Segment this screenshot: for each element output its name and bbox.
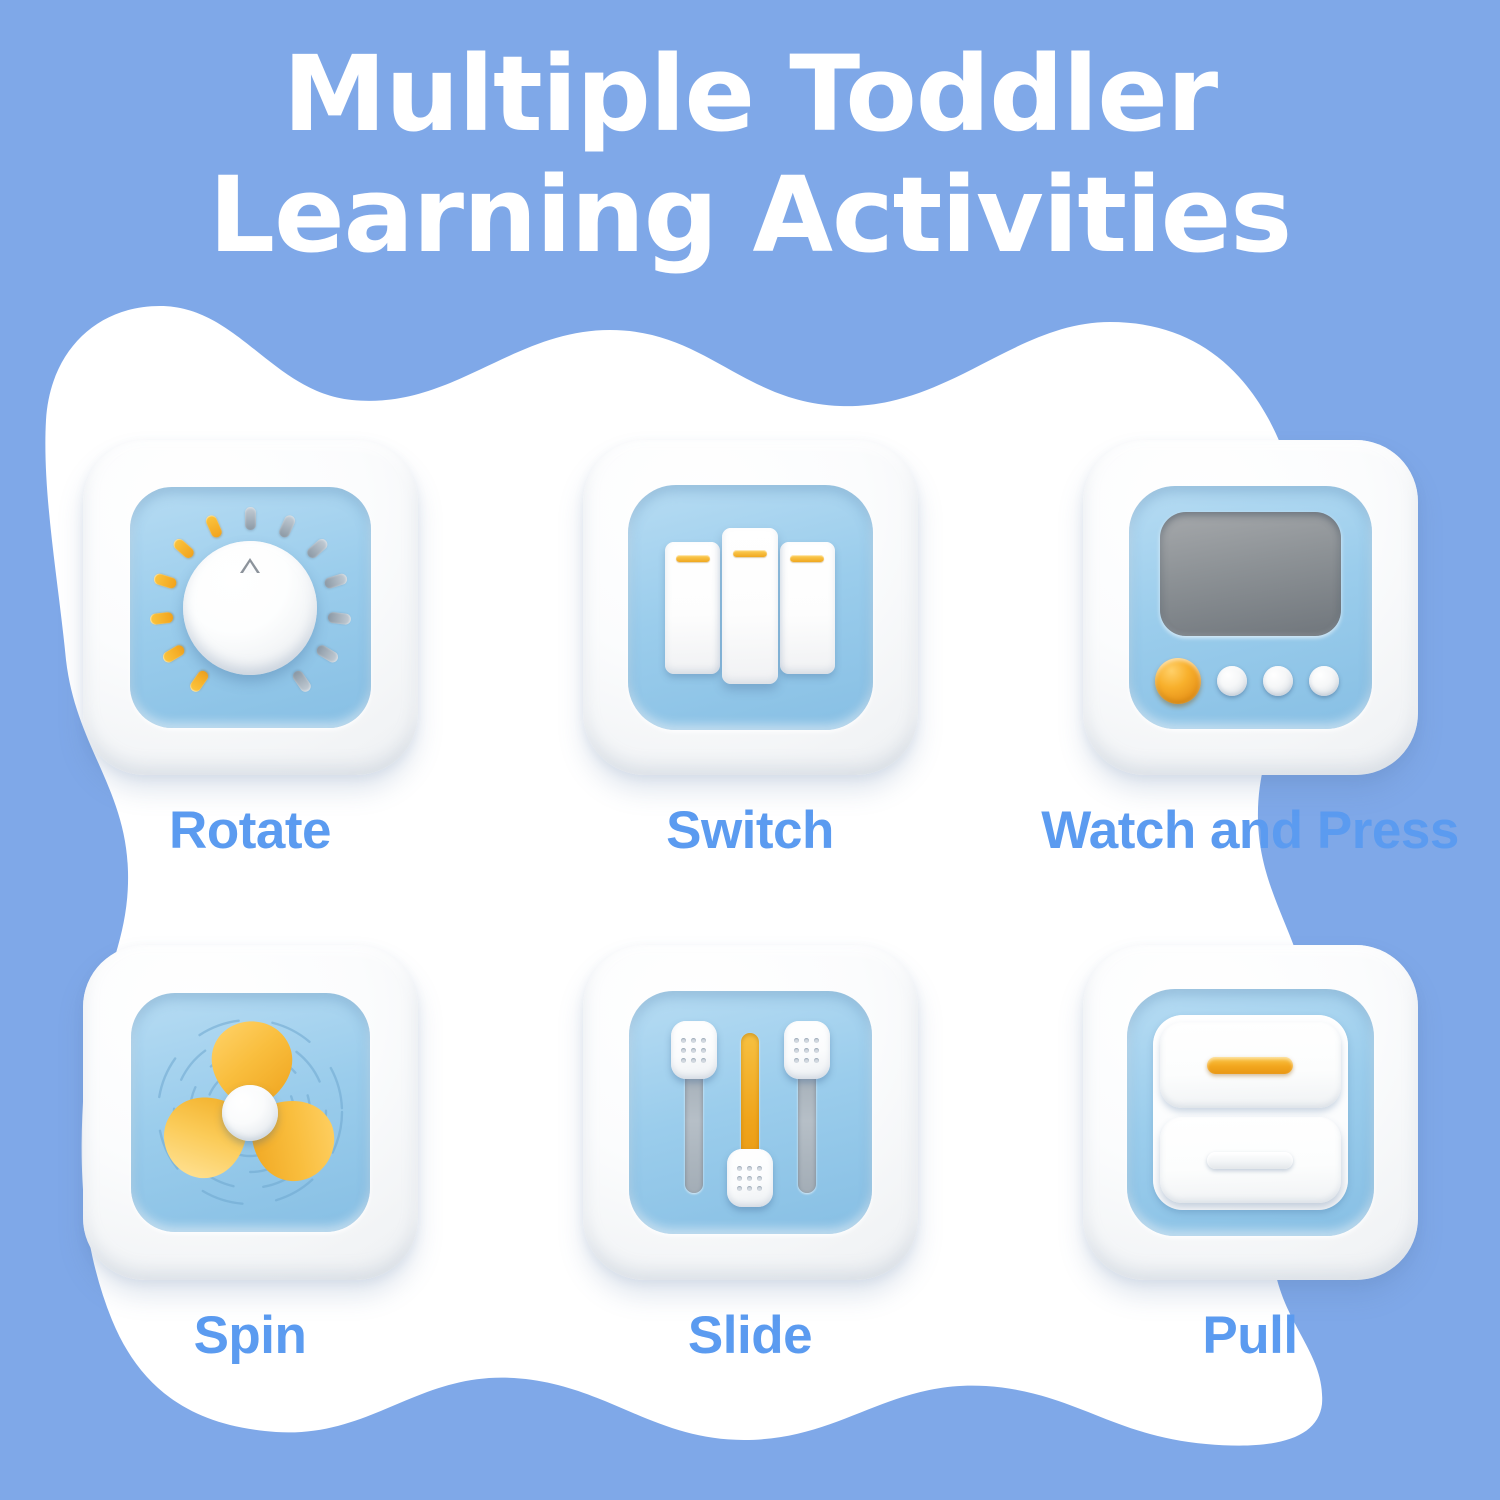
spin-tile[interactable] (83, 945, 418, 1280)
drawer-handles-icon (1153, 1015, 1348, 1210)
rocker-switch-3[interactable] (780, 542, 835, 674)
press-button-white-2[interactable] (1263, 666, 1293, 696)
drawer-handle-orange[interactable] (1207, 1057, 1293, 1074)
rotate-tick-1 (188, 668, 210, 693)
press-button-white-1[interactable] (1217, 666, 1247, 696)
watch-and-press-tile[interactable] (1083, 440, 1418, 775)
fan-hub-icon (222, 1085, 278, 1141)
activity-card-pull[interactable]: Pull (1000, 945, 1500, 1450)
drawer-bottom[interactable] (1160, 1117, 1341, 1203)
rocker-led-3 (790, 555, 824, 562)
rocker-switch-2[interactable] (722, 528, 777, 684)
rocker-switch-icon (665, 542, 835, 674)
activity-card-rotate[interactable]: Rotate (0, 440, 500, 945)
activity-card-switch[interactable]: Switch (500, 440, 1000, 945)
switch-tile[interactable] (583, 440, 918, 775)
slider-knob-1[interactable] (671, 1021, 717, 1079)
activity-label-pull: Pull (1202, 1305, 1297, 1366)
activity-card-slide[interactable]: Slide (500, 945, 1000, 1450)
slider-knob-3[interactable] (784, 1021, 830, 1079)
rocker-switch-1[interactable] (665, 542, 720, 674)
slider-1[interactable] (671, 1033, 717, 1193)
page-title: Multiple Toddler Learning Activities (0, 34, 1500, 275)
activity-label-rotate: Rotate (169, 800, 331, 861)
press-button-orange[interactable] (1155, 658, 1201, 704)
press-button-white-3[interactable] (1309, 666, 1339, 696)
rotate-tick-6 (204, 513, 223, 538)
slider-3[interactable] (784, 1033, 830, 1193)
activity-card-watch-and-press[interactable]: Watch and Press (1000, 440, 1500, 945)
slider-knob-2[interactable] (727, 1149, 773, 1207)
activity-label-spin: Spin (194, 1305, 307, 1366)
slider-2[interactable] (727, 1033, 773, 1193)
rotary-knob-icon[interactable] (183, 541, 317, 675)
rocker-led-1 (676, 555, 710, 562)
slide-tile[interactable] (583, 945, 918, 1280)
rotate-tick-9 (305, 536, 329, 560)
drawer-top[interactable] (1160, 1022, 1341, 1108)
activity-label-watch-and-press: Watch and Press (1041, 800, 1459, 861)
rotate-tick-11 (327, 611, 351, 625)
rotate-tick-13 (290, 668, 312, 693)
activity-label-slide: Slide (688, 1305, 812, 1366)
rotate-tick-7 (245, 507, 256, 530)
drawer-handle-white[interactable] (1207, 1152, 1293, 1169)
activity-label-switch: Switch (666, 800, 834, 861)
rotate-tick-10 (323, 572, 348, 589)
activity-card-spin[interactable]: Spin (0, 945, 500, 1450)
switch-panel (628, 485, 873, 730)
knob-pointer-icon (240, 558, 260, 573)
title-line-2: Learning Activities (0, 155, 1500, 276)
rotate-tick-3 (149, 611, 173, 625)
rotate-tick-5 (171, 536, 195, 560)
rotate-tick-2 (160, 643, 185, 664)
slide-panel (629, 991, 872, 1234)
pull-tile[interactable] (1083, 945, 1418, 1280)
press-button-row (1155, 658, 1347, 704)
watch-and-press-panel (1129, 486, 1372, 729)
rotate-tile[interactable] (83, 440, 418, 775)
title-line-1: Multiple Toddler (0, 34, 1500, 155)
rocker-led-2 (733, 550, 767, 557)
tv-screen-icon (1160, 512, 1341, 636)
rotate-tick-4 (152, 572, 177, 589)
pull-panel (1127, 989, 1374, 1236)
rotate-tick-12 (314, 643, 339, 664)
rotate-tick-8 (277, 513, 296, 538)
spin-panel (131, 993, 370, 1232)
activity-grid: Rotate Switch (0, 440, 1500, 1450)
rotate-panel (130, 487, 371, 728)
